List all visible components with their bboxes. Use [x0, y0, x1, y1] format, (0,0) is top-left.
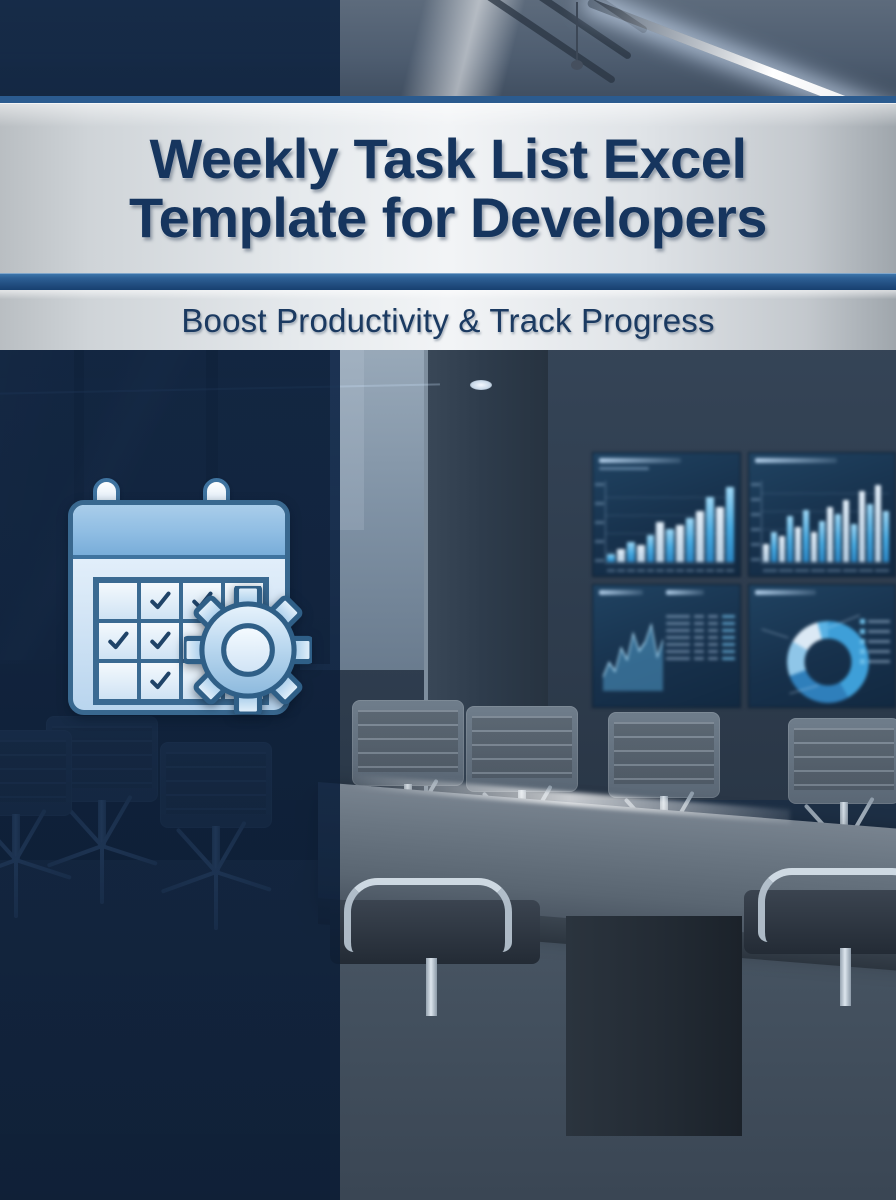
chart-x-ticks	[607, 569, 734, 572]
dashboard-screen-bar-left	[592, 452, 741, 577]
legend-item	[860, 659, 890, 664]
table-row	[666, 615, 734, 618]
chair-post	[426, 958, 437, 1016]
check-icon	[149, 630, 172, 652]
chart-x-ticks	[763, 569, 890, 572]
screen-title-bar	[755, 458, 837, 463]
data-table	[666, 615, 734, 698]
callout-line	[761, 628, 788, 638]
check-icon	[149, 590, 172, 612]
screen-title-bar	[599, 590, 643, 595]
table-row	[666, 629, 734, 632]
dashboard-screen-bar-right	[748, 452, 896, 577]
chair-back	[352, 700, 464, 786]
conference-table-base	[566, 916, 742, 1136]
chair-back-row	[352, 700, 464, 786]
chart-y-axis	[761, 481, 762, 563]
chair-base	[380, 1012, 530, 1062]
bar-series	[607, 483, 734, 562]
chair-arm-frame	[758, 868, 896, 942]
pendant-light	[576, 2, 578, 62]
chair-foreground-left	[330, 900, 540, 964]
dashboard-screen-area-table	[592, 584, 741, 709]
bar-series	[763, 483, 890, 562]
ceiling-beam	[364, 0, 617, 84]
calendar-cell-checked	[97, 621, 139, 661]
legend-item	[860, 629, 890, 634]
dashboard-screen-donut	[748, 584, 896, 709]
title-band: Weekly Task List Excel Template for Deve…	[0, 96, 896, 273]
table-row	[666, 636, 734, 639]
chair-back-row	[788, 718, 896, 804]
chair-back-row	[466, 706, 578, 792]
subtitle-band: Boost Productivity & Track Progress	[0, 290, 896, 350]
page-title-line-1: Weekly Task List Excel	[16, 129, 880, 188]
chair-back	[608, 712, 720, 798]
chair-back-row	[608, 712, 720, 798]
calendar-cell	[97, 661, 139, 701]
chart-legend	[860, 619, 890, 664]
chair-base	[794, 1002, 896, 1052]
calendar-cell	[97, 581, 139, 621]
calendar-cell-checked	[139, 581, 181, 621]
monitor-wall	[592, 452, 896, 708]
legend-item	[860, 639, 890, 644]
gear-icon	[184, 586, 312, 714]
chair-foreground-right	[744, 890, 896, 954]
page-subtitle: Boost Productivity & Track Progress	[181, 302, 714, 340]
chart-y-labels	[751, 483, 760, 562]
screen-title-bar	[666, 590, 704, 595]
chair-arm-frame	[344, 878, 512, 952]
legend-item	[860, 649, 890, 654]
chair-post	[840, 948, 851, 1006]
calendar-gear-icon	[62, 478, 308, 723]
check-icon	[107, 630, 130, 652]
calendar-header-bar	[73, 505, 285, 559]
band-divider	[0, 273, 896, 290]
calendar-cell-checked	[139, 661, 181, 701]
legend-item	[860, 619, 890, 624]
table-row	[666, 643, 734, 646]
chair-back	[466, 706, 578, 792]
calendar-cell-checked	[139, 621, 181, 661]
chart-x-axis	[605, 563, 734, 564]
page-title-line-2: Template for Developers	[16, 188, 880, 247]
screen-subtitle-bar	[599, 467, 649, 470]
check-icon	[149, 670, 172, 692]
table-row	[666, 650, 734, 653]
table-row	[666, 622, 734, 625]
screen-title-bar	[755, 590, 817, 595]
area-chart	[603, 619, 663, 692]
recessed-ceiling-light	[470, 380, 492, 390]
screen-title-bar	[599, 458, 681, 463]
chart-y-labels	[595, 483, 604, 562]
poster-canvas: Weekly Task List Excel Template for Deve…	[0, 0, 896, 1200]
table-row	[666, 657, 734, 660]
chart-x-axis	[761, 563, 890, 564]
chart-y-axis	[605, 481, 606, 563]
chair-back	[788, 718, 896, 804]
